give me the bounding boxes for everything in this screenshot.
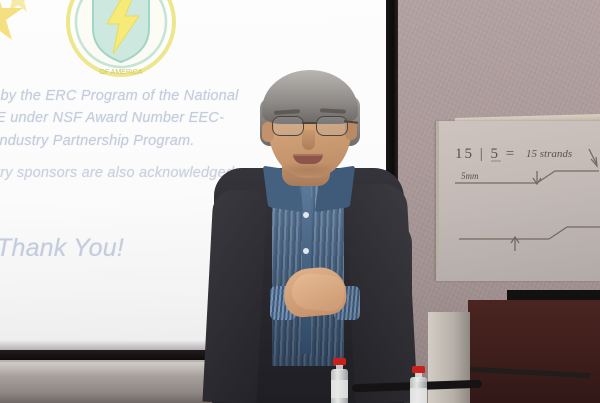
slide-thank-you: Thank You! bbox=[0, 234, 124, 263]
shirt-button bbox=[303, 212, 309, 218]
presenter bbox=[214, 72, 414, 403]
whiteboard: 15 | 5 = 15 strands 5mm bbox=[436, 121, 600, 281]
chin-shading bbox=[284, 164, 332, 176]
svg-text:OF AMERICA: OF AMERICA bbox=[99, 69, 143, 76]
nsf-star-logo-icon bbox=[0, 0, 62, 68]
doe-seal-logo-icon: UNITED STATES OF AMERICA bbox=[63, 0, 179, 78]
slide-line-1: d by the ERC Program of the National bbox=[0, 88, 239, 104]
presentation-room-photo: 15 | 5 = 15 strands 5mm UNITED STATE bbox=[0, 0, 600, 403]
slide-line-2: DOE under NSF Award Number EEC- bbox=[0, 110, 224, 126]
bottle-label bbox=[410, 388, 427, 403]
slide-line-4: dustry sponsors are also acknowledged. bbox=[0, 165, 238, 181]
lens-left bbox=[272, 116, 304, 136]
nose bbox=[302, 130, 315, 150]
whiteboard-measurement: 5mm bbox=[461, 171, 479, 181]
bottle-neck bbox=[336, 365, 343, 370]
jacket-left-lapel bbox=[202, 189, 267, 403]
bottle-cap bbox=[412, 366, 425, 373]
glasses-bridge bbox=[302, 122, 316, 124]
bottle-cap bbox=[333, 358, 346, 365]
lens-right bbox=[316, 116, 348, 136]
podium bbox=[468, 300, 600, 403]
whiteboard-equation: 15 | 5 = bbox=[455, 146, 516, 163]
bottle-label bbox=[331, 380, 348, 398]
whiteboard-result: 15 strands bbox=[526, 148, 572, 160]
slide-line-3: T Industry Partnership Program. bbox=[0, 133, 195, 149]
shirt-button bbox=[303, 248, 309, 254]
bottle-neck bbox=[415, 373, 422, 378]
whiteboard-diagram-icon bbox=[439, 121, 600, 281]
